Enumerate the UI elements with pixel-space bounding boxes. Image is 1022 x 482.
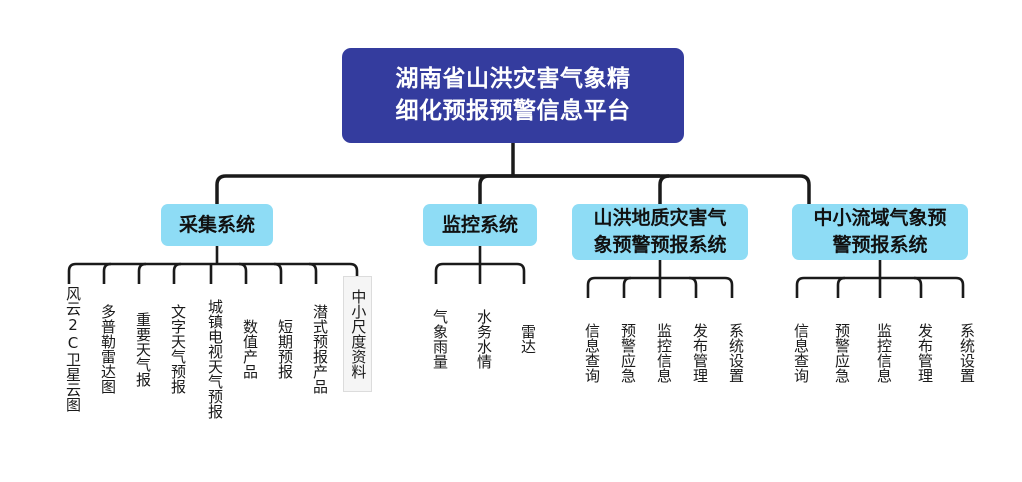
leaf-node-label: 潜式预报产品 [310, 304, 328, 394]
leaf-node-label: 系统设置 [957, 323, 975, 383]
leaf-node[interactable]: 系统设置 [951, 298, 975, 408]
leaf-node[interactable]: 发布管理 [684, 298, 708, 408]
leaf-node[interactable]: 预警应急 [612, 298, 636, 408]
leaf-node[interactable]: 信息查询 [576, 298, 600, 408]
leaf-node[interactable]: 城镇电视天气预报 [199, 284, 223, 434]
leaf-node[interactable]: 数值产品 [234, 284, 258, 414]
branch-node-flood-geohazard[interactable]: 山洪地质灾害气 象预警预报系统 [572, 204, 748, 260]
root-node-label: 湖南省山洪灾害气象精 细化预报预警信息平台 [396, 64, 631, 127]
branch-node-small-watershed-line2: 警预报系统 [813, 232, 946, 259]
leaf-node-label: 预警应急 [832, 323, 850, 383]
leaf-node-label: 重要天气报 [133, 312, 151, 387]
leaf-node-label: 多普勒雷达图 [98, 304, 116, 394]
leaf-node-label: 监控信息 [654, 323, 672, 383]
leaf-node[interactable]: 雷达 [512, 284, 536, 394]
leaf-node[interactable]: 发布管理 [909, 298, 933, 408]
leaf-node-label: 雷达 [518, 324, 536, 354]
branch-node-small-watershed-line1: 中小流域气象预 [813, 205, 946, 232]
leaf-node[interactable]: 重要天气报 [127, 284, 151, 414]
leaf-node[interactable]: 短期预报 [269, 284, 293, 414]
leaf-node-label: 信息查询 [791, 323, 809, 383]
leaf-node[interactable]: 风云2C卫星云图 [57, 284, 81, 414]
leaf-node[interactable]: 潜式预报产品 [304, 284, 328, 414]
leaf-node-label: 风云2C卫星云图 [63, 286, 81, 412]
root-node-line2: 细化预报预警信息平台 [396, 96, 631, 128]
branch-node-monitoring[interactable]: 监控系统 [423, 204, 537, 246]
leaf-node-label: 文字天气预报 [168, 304, 186, 394]
leaf-node[interactable]: 多普勒雷达图 [92, 284, 116, 414]
leaf-node-label: 数值产品 [240, 319, 258, 379]
leaf-node[interactable]: 气象雨量 [424, 284, 448, 394]
leaf-node[interactable]: 系统设置 [720, 298, 744, 408]
leaf-node-label: 气象雨量 [430, 309, 448, 369]
root-node[interactable]: 湖南省山洪灾害气象精 细化预报预警信息平台 [342, 48, 684, 143]
leaf-node[interactable]: 监控信息 [648, 298, 672, 408]
branch-node-flood-geohazard-line1: 山洪地质灾害气 [593, 205, 726, 232]
branch-node-collection[interactable]: 采集系统 [161, 204, 273, 246]
org-chart-canvas: 湖南省山洪灾害气象精 细化预报预警信息平台 采集系统 监控系统 山洪地质灾害气 … [0, 0, 1022, 482]
leaf-node[interactable]: 文字天气预报 [162, 284, 186, 414]
branch-node-monitoring-label: 监控系统 [442, 212, 518, 239]
leaf-node-label: 中小尺度资料 [349, 289, 367, 379]
branch-node-flood-geohazard-label: 山洪地质灾害气 象预警预报系统 [593, 205, 726, 258]
leaf-node-label: 短期预报 [275, 319, 293, 379]
leaf-node[interactable]: 监控信息 [868, 298, 892, 408]
leaf-node-label: 发布管理 [690, 323, 708, 383]
leaf-node-label: 信息查询 [582, 323, 600, 383]
branch-node-collection-label: 采集系统 [179, 212, 255, 239]
leaf-node-label: 城镇电视天气预报 [205, 299, 223, 419]
leaf-node-label: 水务水情 [474, 309, 492, 369]
branch-node-small-watershed[interactable]: 中小流域气象预 警预报系统 [792, 204, 968, 260]
leaf-node-label: 系统设置 [726, 323, 744, 383]
branch-node-flood-geohazard-line2: 象预警预报系统 [593, 232, 726, 259]
leaf-node[interactable]: 水务水情 [468, 284, 492, 394]
leaf-node-label: 预警应急 [618, 323, 636, 383]
leaf-node[interactable]: 预警应急 [826, 298, 850, 408]
leaf-node-label: 监控信息 [874, 323, 892, 383]
root-node-line1: 湖南省山洪灾害气象精 [396, 64, 631, 96]
leaf-node-label: 发布管理 [915, 323, 933, 383]
leaf-node[interactable]: 信息查询 [785, 298, 809, 408]
branch-node-small-watershed-label: 中小流域气象预 警预报系统 [813, 205, 946, 258]
leaf-node-boxed[interactable]: 中小尺度资料 [343, 276, 372, 392]
